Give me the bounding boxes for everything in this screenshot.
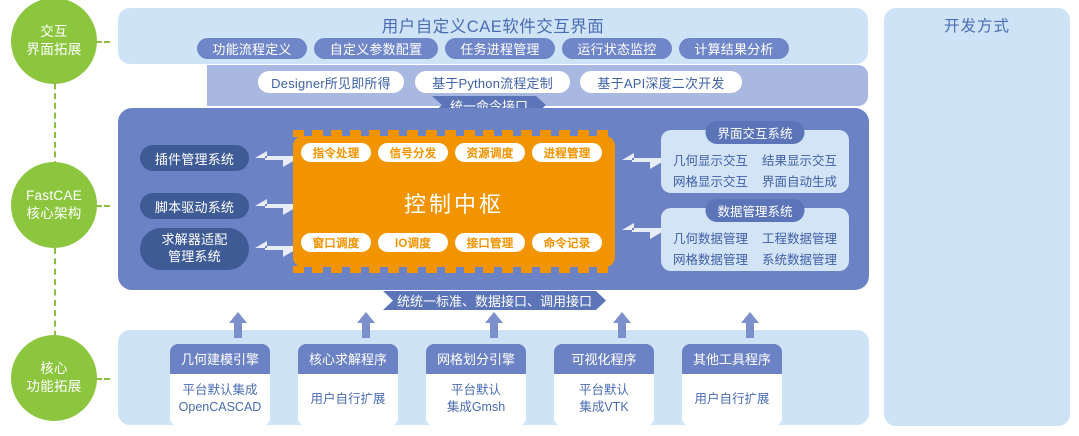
engine-card-body-line1: 平台默认	[556, 382, 652, 399]
left-system-solver-line1: 求解器适配	[161, 232, 227, 249]
engine-card-geometry[interactable]: 几何建模引擎 平台默认集成 OpenCASCAD	[170, 344, 270, 426]
stage-circle-interaction[interactable]: 交互 界面拓展	[11, 0, 97, 84]
hub-label: 控制中枢	[293, 187, 615, 219]
stage-circle-core[interactable]: FastCAE 核心架构	[11, 162, 97, 248]
engine-card-body: 平台默认 集成VTK	[554, 374, 654, 426]
engine-card-body: 用户自行扩展	[298, 374, 398, 426]
stage-circle-line2: 功能拓展	[26, 378, 81, 396]
exchange-arrow-icon	[253, 150, 297, 168]
engine-card-visualization[interactable]: 可视化程序 平台默认 集成VTK	[554, 344, 654, 426]
engine-card-other-tools[interactable]: 其他工具程序 用户自行扩展	[682, 344, 782, 426]
ui-interaction-item-1: 结果显示交互	[758, 150, 841, 169]
ui-interaction-system-title: 界面交互系统	[705, 121, 804, 144]
dev-item-visual-integration[interactable]: 可视化集成	[884, 42, 1079, 119]
up-arrow-icon	[356, 312, 376, 338]
engine-card-title: 其他工具程序	[682, 344, 782, 374]
data-management-system-title: 数据管理系统	[705, 199, 804, 222]
data-management-item-2: 网格数据管理	[669, 249, 752, 268]
exchange-arrow-icon	[253, 240, 297, 258]
stage-circle-line2: 核心架构	[26, 205, 81, 223]
method-pill-2[interactable]: 基于API深度二次开发	[580, 71, 742, 93]
feature-pill-4[interactable]: 计算结果分析	[679, 38, 789, 59]
feature-pill-3[interactable]: 运行状态监控	[562, 38, 672, 59]
engine-card-body: 用户自行扩展	[682, 374, 782, 426]
exchange-arrow-icon	[620, 222, 664, 240]
ui-interaction-item-2: 网格显示交互	[669, 171, 752, 190]
dev-item-plugin-integration[interactable]: 基于插件集成拓展	[884, 238, 1079, 315]
data-management-system: 数据管理系统 几何数据管理 工程数据管理 网格数据管理 系统数据管理	[661, 208, 849, 271]
up-arrow-icon	[484, 312, 504, 338]
hub-pill-top-2[interactable]: 资源调度	[455, 143, 525, 162]
data-management-item-0: 几何数据管理	[669, 228, 752, 247]
engine-card-body-line2: 集成VTK	[556, 399, 652, 416]
up-arrow-icon	[740, 312, 760, 338]
up-arrow-icon	[228, 312, 248, 338]
engine-card-body-line1: 用户自行扩展	[300, 391, 396, 408]
ui-interaction-item-3: 界面自动生成	[758, 171, 841, 190]
hub-teeth-bottom	[293, 266, 615, 273]
feature-pill-0[interactable]: 功能流程定义	[197, 38, 307, 59]
hub-pill-bottom-2[interactable]: 接口管理	[455, 233, 525, 252]
engine-card-body: 平台默认 集成Gmsh	[426, 374, 526, 426]
left-system-solver[interactable]: 求解器适配 管理系统	[140, 228, 249, 270]
stage-circle-line2: 界面拓展	[26, 41, 81, 59]
stage-rail: 交互 界面拓展 FastCAE 核心架构 核心 功能拓展	[0, 0, 110, 436]
engine-card-title: 核心求解程序	[298, 344, 398, 374]
architecture-diagram: 交互 界面拓展 FastCAE 核心架构 核心 功能拓展 用户自定义CAE软件交…	[0, 0, 1079, 436]
engine-card-title: 可视化程序	[554, 344, 654, 374]
dev-item-python-integration[interactable]: 基于Python集成拓展	[884, 140, 1079, 217]
hub-pill-bottom-3[interactable]: 命令记录	[532, 233, 602, 252]
data-management-item-1: 工程数据管理	[758, 228, 841, 247]
method-pill-0[interactable]: Designer所见即所得	[258, 71, 404, 93]
left-system-solver-line2: 管理系统	[168, 249, 221, 266]
engine-card-title: 几何建模引擎	[170, 344, 270, 374]
engine-card-body: 平台默认集成 OpenCASCAD	[170, 374, 270, 426]
ui-interaction-system: 界面交互系统 几何显示交互 结果显示交互 网格显示交互 界面自动生成	[661, 130, 849, 193]
unified-standard-banner: 统统一标准、数据接口、调用接口	[383, 291, 606, 310]
left-system-script[interactable]: 脚本驱动系统	[140, 193, 249, 219]
exchange-arrow-icon	[620, 152, 664, 170]
engine-card-body-line1: 用户自行扩展	[684, 391, 780, 408]
feature-pill-1[interactable]: 自定义参数配置	[314, 38, 438, 59]
dev-item-opensource-development[interactable]: 基于开源代码开发	[884, 336, 1079, 413]
hub-pill-bottom-1[interactable]: IO调度	[378, 233, 448, 252]
up-arrow-icon	[612, 312, 632, 338]
engine-card-title: 网格划分引擎	[426, 344, 526, 374]
hub-pill-top-1[interactable]: 信号分发	[378, 143, 448, 162]
stage-circle-line1: FastCAE	[26, 187, 82, 205]
feature-pill-2[interactable]: 任务进程管理	[445, 38, 555, 59]
engine-card-solver[interactable]: 核心求解程序 用户自行扩展	[298, 344, 398, 426]
hub-pill-top-0[interactable]: 指令处理	[301, 143, 371, 162]
method-pill-1[interactable]: 基于Python流程定制	[415, 71, 570, 93]
ui-interaction-item-0: 几何显示交互	[669, 150, 752, 169]
exchange-arrow-icon	[253, 198, 297, 216]
data-management-item-3: 系统数据管理	[758, 249, 841, 268]
engine-card-body-line2: OpenCASCAD	[172, 399, 268, 416]
engine-card-body-line1: 平台默认	[428, 382, 524, 399]
development-method-title: 开发方式	[884, 14, 1070, 36]
stage-circle-line1: 交互	[40, 23, 68, 41]
page-title: 用户自定义CAE软件交互界面	[118, 13, 868, 37]
stage-circle-function[interactable]: 核心 功能拓展	[11, 335, 97, 421]
engine-card-body-line2: 集成Gmsh	[428, 399, 524, 416]
engine-card-body-line1: 平台默认集成	[172, 382, 268, 399]
hub-pill-top-3[interactable]: 进程管理	[532, 143, 602, 162]
control-hub: 指令处理 信号分发 资源调度 进程管理 控制中枢 窗口调度 IO调度 接口管理 …	[293, 130, 615, 273]
left-system-plugin[interactable]: 插件管理系统	[140, 145, 249, 171]
hub-pill-bottom-0[interactable]: 窗口调度	[301, 233, 371, 252]
engine-card-mesh[interactable]: 网格划分引擎 平台默认 集成Gmsh	[426, 344, 526, 426]
stage-circle-line1: 核心	[40, 360, 68, 378]
